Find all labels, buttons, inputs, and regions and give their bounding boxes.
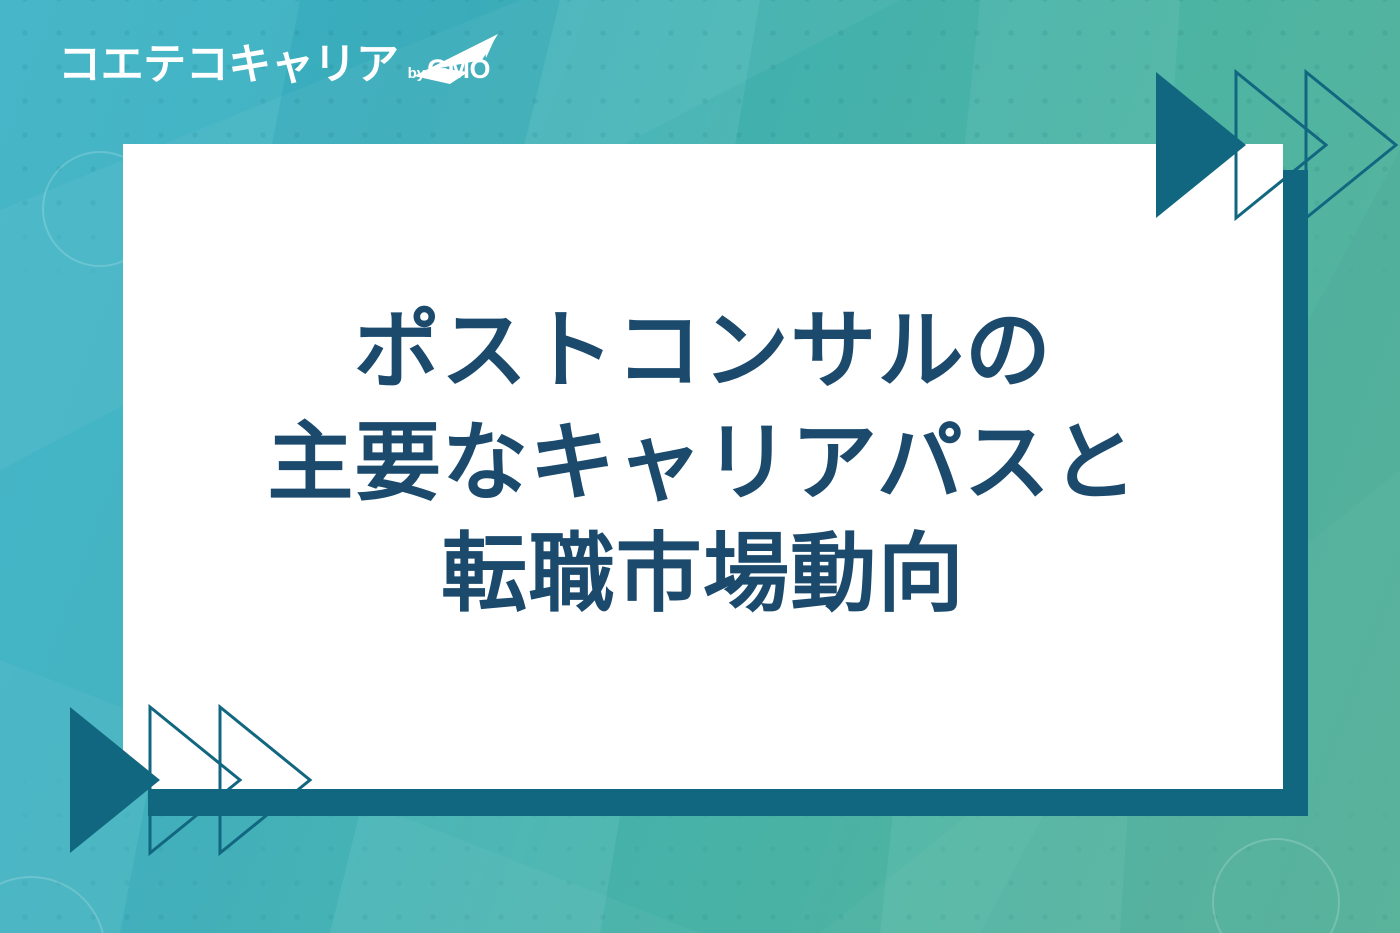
title-line-3: 転職市場動向 [441,519,965,631]
page-title: ポストコンサルの 主要なキャリアパスと 転職市場動向 [123,144,1283,789]
triangle-right-icon [1306,72,1396,218]
thumbnail-canvas: ポストコンサルの 主要なキャリアパスと 転職市場動向 コエテコキャリア by G… [0,0,1400,933]
logo-brand-text: コエテコキャリア [58,40,399,90]
logo-mark: コエテコキャリア [58,44,399,87]
arrow-swoosh-icon [410,32,506,90]
circle-outline-bottom-left [0,876,106,933]
title-line-2: 主要なキャリアパスと [267,408,1138,520]
title-line-1: ポストコンサルの [354,296,1052,408]
brand-logo[interactable]: コエテコキャリア by GMO [58,44,490,87]
circle-outline-bottom-right [1212,838,1340,933]
